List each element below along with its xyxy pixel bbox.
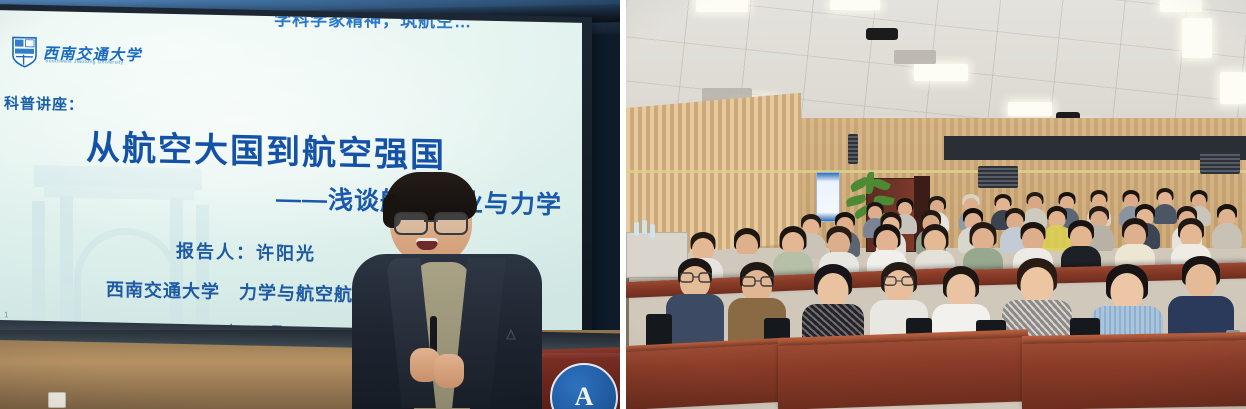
glasses-icon [680,272,712,283]
ceiling-lamp [1220,72,1246,104]
ceiling-lamp [1182,18,1212,58]
ceiling-lamp [1160,0,1202,12]
slide-presenter: 报告人：许阳光 [176,237,316,266]
slide-banner-text: 学科学家精神，筑航空… [274,10,472,32]
podium-emblem-letter: A [575,382,594,409]
desk-row-1 [1022,340,1246,409]
ceiling-projector [866,28,898,40]
desk-row-2 [778,337,1028,409]
ceiling-lamp [830,0,880,10]
jacket-brand-icon [504,328,518,342]
two-photo-collage: 西南交通大学 Southwest Jiaotong University 学科学… [0,0,1246,409]
ac-grille [978,166,1018,188]
wall-accent-strip [626,170,1246,173]
university-logo: 西南交通大学 Southwest Jiaotong University [12,36,142,70]
desk-row-2 [626,344,786,409]
logo-text-en: Southwest Jiaotong University [45,58,124,66]
ceiling-lamp [1008,102,1052,116]
audience-member [1214,204,1240,246]
speaker-figure [352,176,542,409]
ceiling-lamp [696,0,748,12]
slide-kicker: 科普讲座： [4,92,84,115]
wall-outlet [48,392,66,408]
ceiling-lamp [914,64,968,81]
audience-member-front [670,258,720,344]
ac-grille [848,134,858,164]
shield-icon [12,36,37,68]
lecture-speaker-photo: 西南交通大学 Southwest Jiaotong University 学科学… [0,0,620,409]
glasses-icon [394,212,468,231]
glasses-icon [884,276,914,286]
slide-title: 从航空大国到航空强国 [86,120,446,177]
audience-photo [626,0,1246,409]
slide-page-number: 1 [4,310,8,319]
ceiling-vent [894,50,936,64]
ac-grille [1200,152,1240,174]
speaker-hand-right [434,354,464,388]
glasses-icon [742,276,774,287]
